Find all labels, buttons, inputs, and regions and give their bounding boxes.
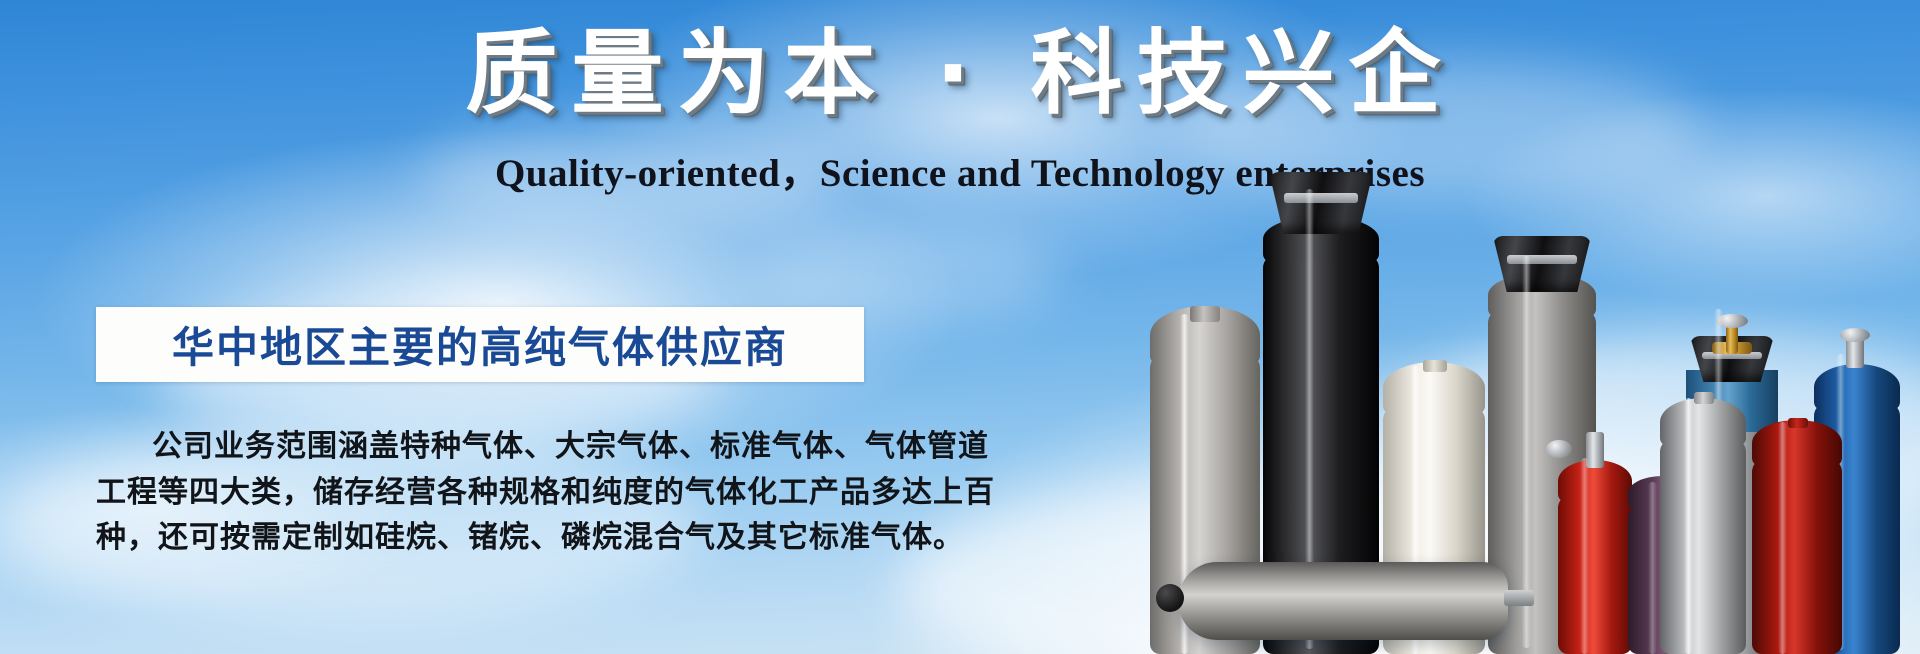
cylinder-red-dark-right — [1752, 422, 1842, 654]
paragraph-line: 公司业务范围涵盖特种气体、大宗气体、标准气体、气体管道 — [96, 424, 886, 470]
cylinder-lying-horizontal — [1178, 562, 1508, 640]
cylinder-red-small — [1558, 458, 1632, 654]
cylinder-cap-icon — [1269, 172, 1373, 234]
paragraph-line: 工程等四大类，储存经营各种规格和纯度的气体化工产品多达上百 — [96, 470, 886, 516]
valve-knob-icon — [1156, 584, 1184, 612]
banner-headline: 质量为本 · 科技兴企 — [0, 24, 1920, 123]
cylinder-cap-icon — [1493, 236, 1591, 292]
cylinder-aluminium-plain — [1660, 398, 1746, 654]
highlight-box-text: 华中地区主要的高纯气体供应商 — [172, 314, 788, 375]
gas-cylinder-group-right — [1660, 300, 1920, 654]
banner-paragraph: 公司业务范围涵盖特种气体、大宗气体、标准气体、气体管道 工程等四大类，储存经营各… — [96, 424, 886, 561]
highlight-box: 华中地区主要的高纯气体供应商 — [96, 307, 864, 382]
cylinder-valve-icon — [1504, 590, 1534, 606]
promotional-banner: 质量为本 · 科技兴企 Quality-oriented，Science and… — [0, 0, 1920, 654]
paragraph-line: 种，还可按需定制如硅烷、锗烷、磷烷混合气及其它标准气体。 — [96, 515, 886, 561]
valve-knob-icon — [1546, 440, 1572, 458]
